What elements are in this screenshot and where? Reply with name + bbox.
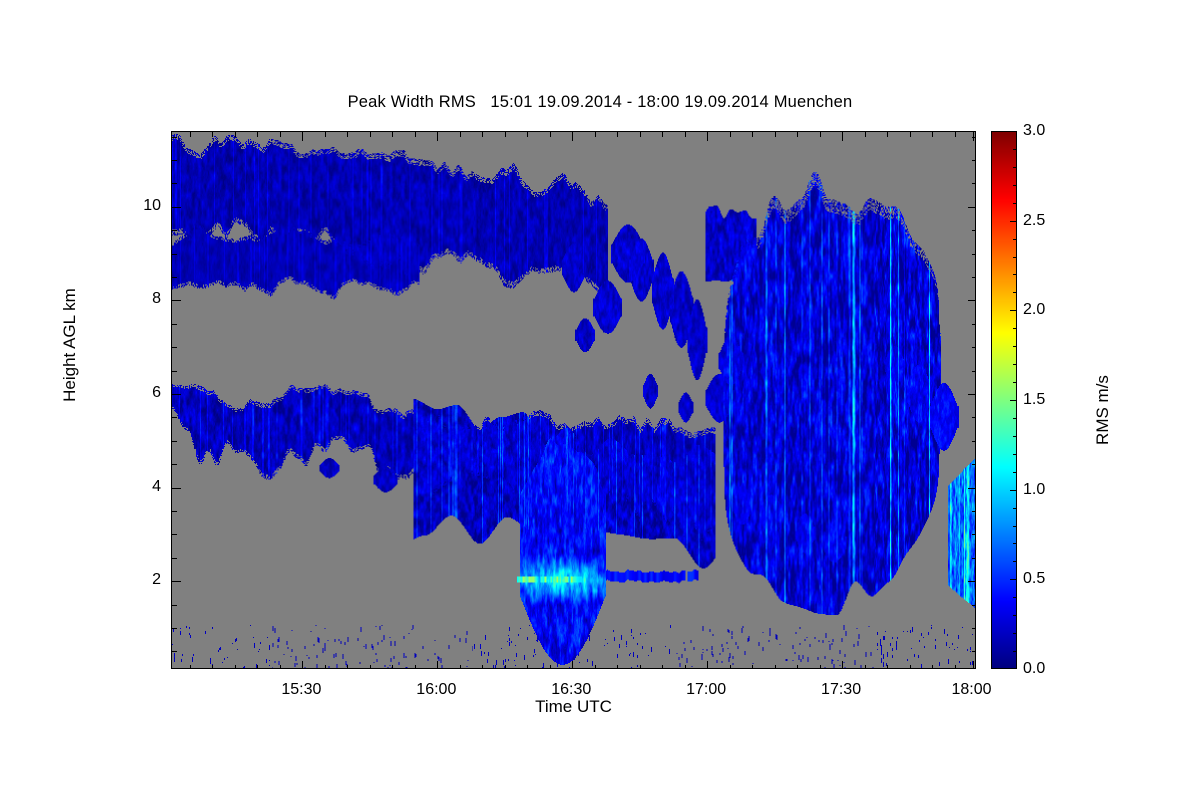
x-minor-tick bbox=[910, 132, 911, 137]
y-major-tick bbox=[968, 581, 976, 582]
x-minor-tick bbox=[662, 665, 663, 669]
y-minor-tick bbox=[172, 371, 177, 372]
y-major-tick bbox=[172, 581, 181, 582]
x-minor-tick bbox=[460, 132, 461, 137]
y-minor-tick bbox=[172, 277, 177, 278]
x-minor-tick bbox=[550, 132, 551, 137]
colorbar-minor-tick bbox=[1013, 257, 1017, 258]
x-minor-tick bbox=[280, 665, 281, 669]
x-major-tick bbox=[572, 661, 573, 669]
x-major-tick bbox=[707, 661, 708, 669]
x-minor-tick bbox=[212, 132, 213, 137]
x-minor-tick bbox=[370, 665, 371, 669]
colorbar-minor-tick bbox=[1013, 651, 1017, 652]
y-minor-tick bbox=[972, 160, 976, 161]
y-major-tick bbox=[172, 488, 181, 489]
colorbar-minor-tick bbox=[1013, 167, 1017, 168]
colorbar-major-tick bbox=[1010, 490, 1017, 491]
x-minor-tick bbox=[235, 132, 236, 137]
y-major-tick bbox=[172, 394, 181, 395]
x-minor-tick bbox=[640, 665, 641, 669]
colorbar-minor-tick bbox=[1013, 436, 1017, 437]
x-minor-tick bbox=[752, 665, 753, 669]
x-major-tick bbox=[842, 132, 843, 141]
x-minor-tick bbox=[617, 665, 618, 669]
colorbar-minor-tick bbox=[1013, 472, 1017, 473]
y-minor-tick bbox=[972, 277, 976, 278]
x-minor-tick bbox=[955, 132, 956, 137]
x-minor-tick bbox=[190, 665, 191, 669]
y-minor-tick bbox=[972, 534, 976, 535]
colorbar-minor-tick bbox=[1013, 454, 1017, 455]
colorbar-minor-tick bbox=[1013, 508, 1017, 509]
y-minor-tick bbox=[972, 324, 976, 325]
y-minor-tick bbox=[172, 628, 177, 629]
y-major-tick bbox=[968, 488, 976, 489]
x-major-tick bbox=[437, 132, 438, 141]
x-minor-tick bbox=[347, 665, 348, 669]
x-minor-tick bbox=[752, 132, 753, 137]
figure-canvas: Peak Width RMS 15:01 19.09.2014 - 18:00 … bbox=[0, 0, 1200, 800]
colorbar-major-tick bbox=[1010, 221, 1017, 222]
colorbar-major-tick bbox=[1010, 310, 1017, 311]
x-minor-tick bbox=[392, 132, 393, 137]
y-minor-tick bbox=[172, 324, 177, 325]
x-minor-tick bbox=[865, 132, 866, 137]
colorbar-minor-tick bbox=[1013, 597, 1017, 598]
colorbar[interactable] bbox=[991, 131, 1017, 669]
colorbar-tick-label: 1.0 bbox=[1023, 481, 1045, 499]
y-minor-tick bbox=[172, 441, 177, 442]
y-major-tick bbox=[172, 300, 181, 301]
x-minor-tick bbox=[190, 132, 191, 137]
y-minor-tick bbox=[972, 605, 976, 606]
colorbar-minor-tick bbox=[1013, 274, 1017, 275]
y-major-tick bbox=[968, 300, 976, 301]
y-axis-title: Height AGL km bbox=[60, 215, 80, 475]
colorbar-minor-tick bbox=[1013, 615, 1017, 616]
colorbar-tick-label: 0.0 bbox=[1023, 660, 1045, 678]
y-minor-tick bbox=[972, 254, 976, 255]
colorbar-tick-label: 0.5 bbox=[1023, 570, 1045, 588]
x-minor-tick bbox=[325, 132, 326, 137]
x-minor-tick bbox=[887, 665, 888, 669]
colorbar-minor-tick bbox=[1013, 526, 1017, 527]
x-minor-tick bbox=[617, 132, 618, 137]
x-minor-tick bbox=[482, 132, 483, 137]
page-title: Peak Width RMS 15:01 19.09.2014 - 18:00 … bbox=[0, 93, 1200, 112]
x-minor-tick bbox=[865, 665, 866, 669]
colorbar-minor-tick bbox=[1013, 543, 1017, 544]
y-tick-label: 4 bbox=[121, 478, 161, 496]
plot-area[interactable] bbox=[171, 131, 976, 669]
x-minor-tick bbox=[527, 665, 528, 669]
x-minor-tick bbox=[235, 665, 236, 669]
y-minor-tick bbox=[172, 417, 177, 418]
x-minor-tick bbox=[325, 665, 326, 669]
y-minor-tick bbox=[972, 137, 976, 138]
x-minor-tick bbox=[482, 665, 483, 669]
x-minor-tick bbox=[505, 665, 506, 669]
x-major-tick bbox=[302, 132, 303, 141]
y-major-tick bbox=[968, 394, 976, 395]
y-tick-label: 6 bbox=[121, 384, 161, 402]
x-minor-tick bbox=[955, 665, 956, 669]
x-minor-tick bbox=[685, 132, 686, 137]
y-minor-tick bbox=[172, 137, 177, 138]
y-minor-tick bbox=[172, 347, 177, 348]
x-minor-tick bbox=[257, 132, 258, 137]
y-minor-tick bbox=[972, 511, 976, 512]
colorbar-tick-label: 3.0 bbox=[1023, 122, 1045, 140]
y-minor-tick bbox=[172, 230, 177, 231]
y-minor-tick bbox=[172, 511, 177, 512]
colorbar-tick-label: 2.5 bbox=[1023, 212, 1045, 230]
y-minor-tick bbox=[972, 371, 976, 372]
x-minor-tick bbox=[775, 665, 776, 669]
x-minor-tick bbox=[775, 132, 776, 137]
colorbar-minor-tick bbox=[1013, 328, 1017, 329]
colorbar-major-tick bbox=[1010, 579, 1017, 580]
y-minor-tick bbox=[172, 651, 177, 652]
colorbar-major-tick bbox=[1010, 131, 1017, 132]
x-minor-tick bbox=[595, 132, 596, 137]
y-minor-tick bbox=[172, 464, 177, 465]
x-minor-tick bbox=[820, 665, 821, 669]
colorbar-major-tick bbox=[1010, 400, 1017, 401]
x-minor-tick bbox=[460, 665, 461, 669]
x-minor-tick bbox=[212, 665, 213, 669]
x-minor-tick bbox=[392, 665, 393, 669]
y-major-tick bbox=[968, 207, 976, 208]
x-major-tick bbox=[707, 132, 708, 141]
y-minor-tick bbox=[972, 464, 976, 465]
y-minor-tick bbox=[172, 183, 177, 184]
x-minor-tick bbox=[797, 132, 798, 137]
y-minor-tick bbox=[972, 417, 976, 418]
colorbar-minor-tick bbox=[1013, 185, 1017, 186]
x-minor-tick bbox=[595, 665, 596, 669]
x-minor-tick bbox=[797, 665, 798, 669]
y-tick-label: 2 bbox=[121, 571, 161, 589]
y-major-tick bbox=[172, 207, 181, 208]
colorbar-minor-tick bbox=[1013, 382, 1017, 383]
y-minor-tick bbox=[972, 441, 976, 442]
x-minor-tick bbox=[932, 665, 933, 669]
colorbar-tick-label: 2.0 bbox=[1023, 301, 1045, 319]
y-minor-tick bbox=[172, 605, 177, 606]
y-minor-tick bbox=[172, 160, 177, 161]
y-tick-label: 8 bbox=[121, 290, 161, 308]
x-minor-tick bbox=[820, 132, 821, 137]
x-major-tick bbox=[572, 132, 573, 141]
colorbar-title: RMS m/s bbox=[1093, 310, 1113, 510]
x-minor-tick bbox=[887, 132, 888, 137]
heatmap-field bbox=[172, 132, 975, 668]
x-minor-tick bbox=[730, 132, 731, 137]
x-minor-tick bbox=[347, 132, 348, 137]
y-minor-tick bbox=[972, 628, 976, 629]
x-minor-tick bbox=[370, 132, 371, 137]
x-minor-tick bbox=[415, 665, 416, 669]
x-minor-tick bbox=[730, 665, 731, 669]
x-minor-tick bbox=[550, 665, 551, 669]
x-minor-tick bbox=[257, 665, 258, 669]
y-minor-tick bbox=[172, 558, 177, 559]
x-axis-title: Time UTC bbox=[171, 697, 976, 717]
colorbar-minor-tick bbox=[1013, 292, 1017, 293]
y-minor-tick bbox=[972, 230, 976, 231]
colorbar-minor-tick bbox=[1013, 346, 1017, 347]
colorbar-minor-tick bbox=[1013, 203, 1017, 204]
x-major-tick bbox=[842, 661, 843, 669]
colorbar-minor-tick bbox=[1013, 149, 1017, 150]
x-major-tick bbox=[973, 661, 974, 669]
colorbar-minor-tick bbox=[1013, 364, 1017, 365]
y-minor-tick bbox=[972, 558, 976, 559]
x-major-tick bbox=[437, 661, 438, 669]
y-minor-tick bbox=[972, 347, 976, 348]
x-minor-tick bbox=[662, 132, 663, 137]
x-minor-tick bbox=[415, 132, 416, 137]
y-minor-tick bbox=[172, 254, 177, 255]
y-minor-tick bbox=[972, 651, 976, 652]
x-minor-tick bbox=[910, 665, 911, 669]
x-major-tick bbox=[302, 661, 303, 669]
y-minor-tick bbox=[172, 534, 177, 535]
colorbar-minor-tick bbox=[1013, 418, 1017, 419]
colorbar-tick-label: 1.5 bbox=[1023, 391, 1045, 409]
colorbar-minor-tick bbox=[1013, 561, 1017, 562]
x-minor-tick bbox=[527, 132, 528, 137]
colorbar-minor-tick bbox=[1013, 239, 1017, 240]
x-minor-tick bbox=[932, 132, 933, 137]
x-minor-tick bbox=[685, 665, 686, 669]
y-tick-label: 10 bbox=[121, 197, 161, 215]
colorbar-minor-tick bbox=[1013, 633, 1017, 634]
x-minor-tick bbox=[505, 132, 506, 137]
x-minor-tick bbox=[280, 132, 281, 137]
x-minor-tick bbox=[640, 132, 641, 137]
colorbar-major-tick bbox=[1010, 668, 1017, 669]
y-minor-tick bbox=[972, 183, 976, 184]
